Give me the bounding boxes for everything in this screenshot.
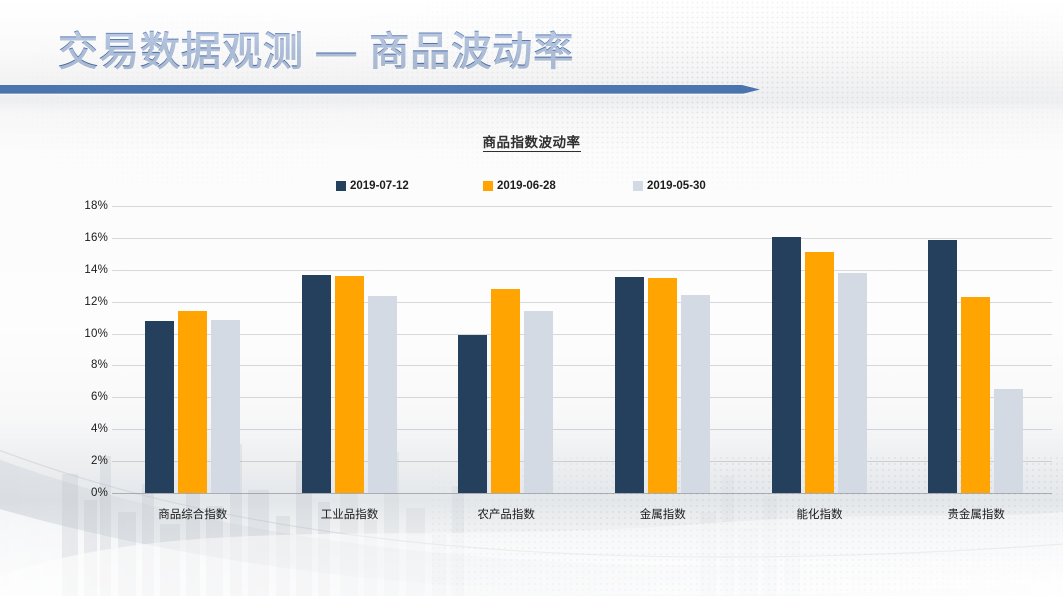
bar-group: 金属指数 (615, 105, 710, 596)
bar-0[interactable] (928, 240, 957, 494)
x-axis-category-label: 工业品指数 (270, 506, 430, 522)
bar-1[interactable] (961, 297, 990, 493)
y-axis-tick-label: 12% (56, 296, 108, 308)
x-axis-category-label: 贵金属指数 (896, 506, 1056, 522)
bar-2[interactable] (681, 295, 710, 494)
y-axis-tick-label: 14% (56, 264, 108, 276)
bar-0[interactable] (458, 335, 487, 493)
y-axis-tick-label: 2% (56, 455, 108, 467)
bar-1[interactable] (335, 276, 364, 493)
bar-2[interactable] (211, 320, 240, 493)
x-axis-category-label: 能化指数 (740, 506, 900, 522)
bar-1[interactable] (648, 278, 677, 493)
bar-groups: 商品综合指数工业品指数农产品指数金属指数能化指数贵金属指数 (112, 105, 1052, 596)
y-axis-tick-label: 8% (56, 359, 108, 371)
bar-group: 工业品指数 (302, 105, 397, 596)
bar-2[interactable] (838, 273, 867, 493)
x-axis-category-label: 金属指数 (583, 506, 743, 522)
bar-group: 商品综合指数 (145, 105, 240, 596)
page-title: 交易数据观测 — 商品波动率 (58, 27, 574, 77)
bar-0[interactable] (302, 275, 331, 493)
plot-area: 18%16%14%12%10%8%6%4%2%0% 商品综合指数工业品指数农产品… (0, 105, 1063, 596)
y-axis-tick-label: 6% (56, 391, 108, 403)
bar-0[interactable] (772, 237, 801, 493)
bar-1[interactable] (178, 311, 207, 493)
y-axis-tick-label: 10% (56, 328, 108, 340)
chart-container: 商品指数波动率 2019-07-12 2019-06-28 2019-05-30… (0, 105, 1063, 596)
slide: 交易数据观测 — 商品波动率 商品指数波动率 2019-07-12 (0, 0, 1063, 596)
bar-group: 能化指数 (772, 105, 867, 596)
bar-group: 农产品指数 (458, 105, 553, 596)
title-block: 交易数据观测 — 商品波动率 (0, 0, 1063, 105)
y-axis-tick-label: 16% (56, 232, 108, 244)
bar-1[interactable] (805, 252, 834, 493)
bar-0[interactable] (615, 277, 644, 493)
y-axis-tick-label: 18% (56, 200, 108, 212)
bar-1[interactable] (491, 289, 520, 493)
title-underline-bar (0, 84, 760, 95)
y-axis-tick-label: 4% (56, 423, 108, 435)
x-axis-category-label: 商品综合指数 (113, 506, 273, 522)
bar-2[interactable] (524, 311, 553, 493)
bar-0[interactable] (145, 321, 174, 493)
bar-2[interactable] (368, 296, 397, 493)
y-axis-tick-label: 0% (56, 487, 108, 499)
y-axis: 18%16%14%12%10%8%6%4%2%0% (56, 105, 108, 596)
bar-group: 贵金属指数 (928, 105, 1023, 596)
x-axis-category-label: 农产品指数 (426, 506, 586, 522)
bar-2[interactable] (994, 389, 1023, 493)
